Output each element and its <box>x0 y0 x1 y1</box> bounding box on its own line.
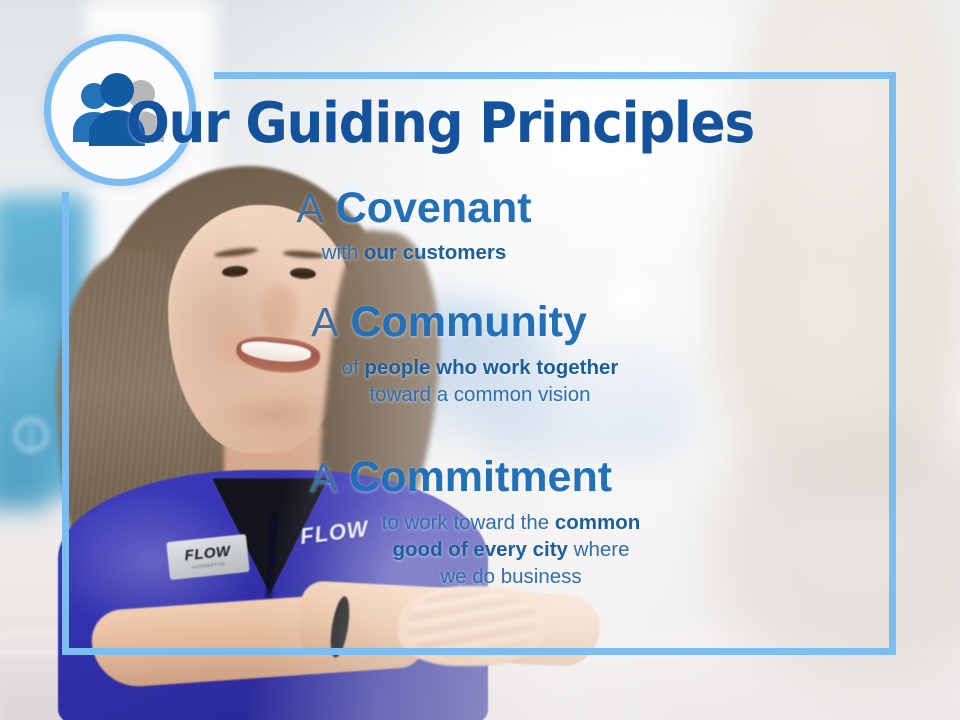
subject-fingers <box>408 592 536 658</box>
blurred-foreground-person-shoulder <box>700 420 960 720</box>
subject-chin-shadow <box>214 392 334 436</box>
guiding-principles-graphic: FLOW AUTOMOTIVE FLOW <box>0 0 960 720</box>
group-people-icon <box>70 73 170 147</box>
subject-nose <box>261 285 297 339</box>
subject-shirt-button <box>268 522 275 529</box>
people-badge <box>44 34 196 186</box>
subject-shirt-button <box>271 556 278 563</box>
bokeh-highlight <box>600 268 658 326</box>
